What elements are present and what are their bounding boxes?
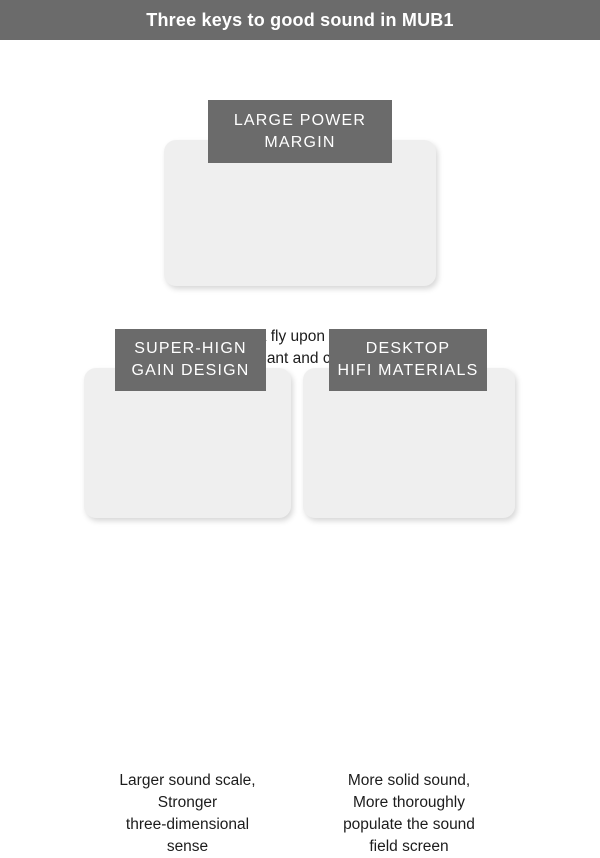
card-body-line: three-dimensional [92,814,283,836]
card-body-line: Stronger [92,792,283,814]
card-heading-line: DESKTOP [338,338,479,360]
page-title: Three keys to good sound in MUB1 [146,11,453,29]
card-body-line: More thoroughly [311,792,507,814]
header-banner: Three keys to good sound in MUB1 [0,0,600,40]
card-heading-line: HIFI MATERIALS [338,360,479,382]
card-heading-line: MARGIN [234,132,366,154]
card-heading-large-power-margin: LARGE POWER MARGIN [208,100,392,163]
card-heading-text: LARGE POWER MARGIN [234,110,366,154]
card-body-line: Larger sound scale, [92,770,283,792]
card-body-desktop-hifi-materials: More solid sound, More thoroughly popula… [303,770,515,858]
card-body-line: sense [92,836,283,858]
card-body-line: More solid sound, [311,770,507,792]
card-body-line: populate the sound [311,814,507,836]
card-heading-desktop-hifi-materials: DESKTOP HIFI MATERIALS [329,329,487,391]
card-heading-text: SUPER-HIGN GAIN DESIGN [131,338,249,382]
infographic-root: Three keys to good sound in MUB1 Break a… [0,0,600,600]
card-heading-super-hign-gain-design: SUPER-HIGN GAIN DESIGN [115,329,266,391]
card-heading-text: DESKTOP HIFI MATERIALS [338,338,479,382]
card-heading-line: SUPER-HIGN [131,338,249,360]
card-heading-line: GAIN DESIGN [131,360,249,382]
card-body-super-hign-gain-design: Larger sound scale, Stronger three-dimen… [84,770,291,858]
card-heading-line: LARGE POWER [234,110,366,132]
card-body-line: field screen [311,836,507,858]
